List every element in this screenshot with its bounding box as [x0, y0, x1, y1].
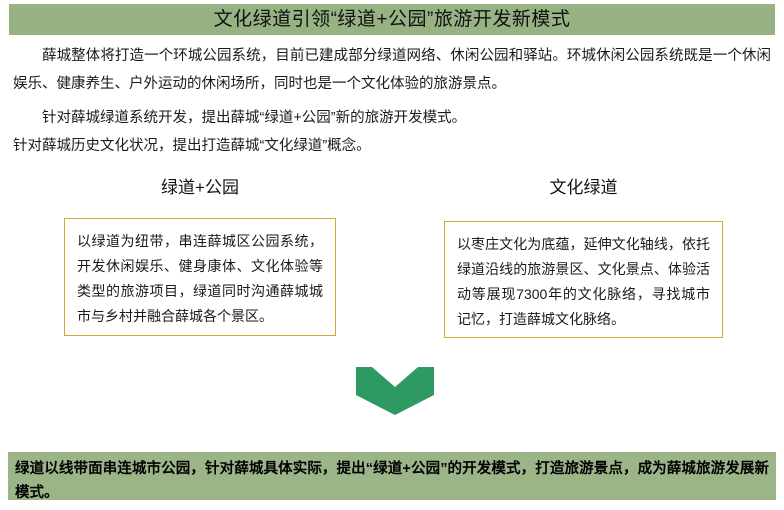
conclusion-text: 绿道以线带面串连城市公园，针对薛城具体实际，提出“绿道+公园”的开发模式，打造旅… [15, 457, 769, 505]
chevron-down-icon-shape [356, 367, 434, 417]
slide-title-banner: 文化绿道引领“绿道+公园”旅游开发新模式 [9, 4, 775, 35]
column-heading-greenway-park: 绿道+公园 [64, 176, 336, 200]
body-paragraph-2: 针对薛城绿道系统开发，提出薛城“绿道+公园”新的旅游开发模式。 [13, 104, 771, 132]
content-box-cultural-greenway: 以枣庄文化为底蕴，延伸文化轴线，依托绿道沿线的旅游景区、文化景点、体验活动等展现… [444, 221, 723, 338]
column-heading-cultural-greenway: 文化绿道 [444, 176, 723, 200]
slide-title-text: 文化绿道引领“绿道+公园”旅游开发新模式 [214, 10, 571, 29]
chevron-down-icon [356, 367, 434, 417]
conclusion-banner: 绿道以线带面串连城市公园，针对薛城具体实际，提出“绿道+公园”的开发模式，打造旅… [8, 452, 776, 500]
body-paragraph-3: 针对薛城历史文化状况，提出打造薛城“文化绿道”概念。 [13, 132, 771, 160]
slide-canvas: 文化绿道引领“绿道+公园”旅游开发新模式 薛城整体将打造一个环城公园系统，目前已… [0, 0, 784, 510]
content-box-greenway-park-text: 以绿道为纽带，串连薛城区公园系统，开发休闲娱乐、健身康体、文化体验等类型的旅游项… [77, 229, 323, 329]
body-paragraph-1: 薛城整体将打造一个环城公园系统，目前已建成部分绿道网络、休闲公园和驿站。环城休闲… [13, 42, 771, 98]
content-box-greenway-park: 以绿道为纽带，串连薛城区公园系统，开发休闲娱乐、健身康体、文化体验等类型的旅游项… [64, 218, 336, 336]
content-box-cultural-greenway-text: 以枣庄文化为底蕴，延伸文化轴线，依托绿道沿线的旅游景区、文化景点、体验活动等展现… [457, 232, 710, 332]
